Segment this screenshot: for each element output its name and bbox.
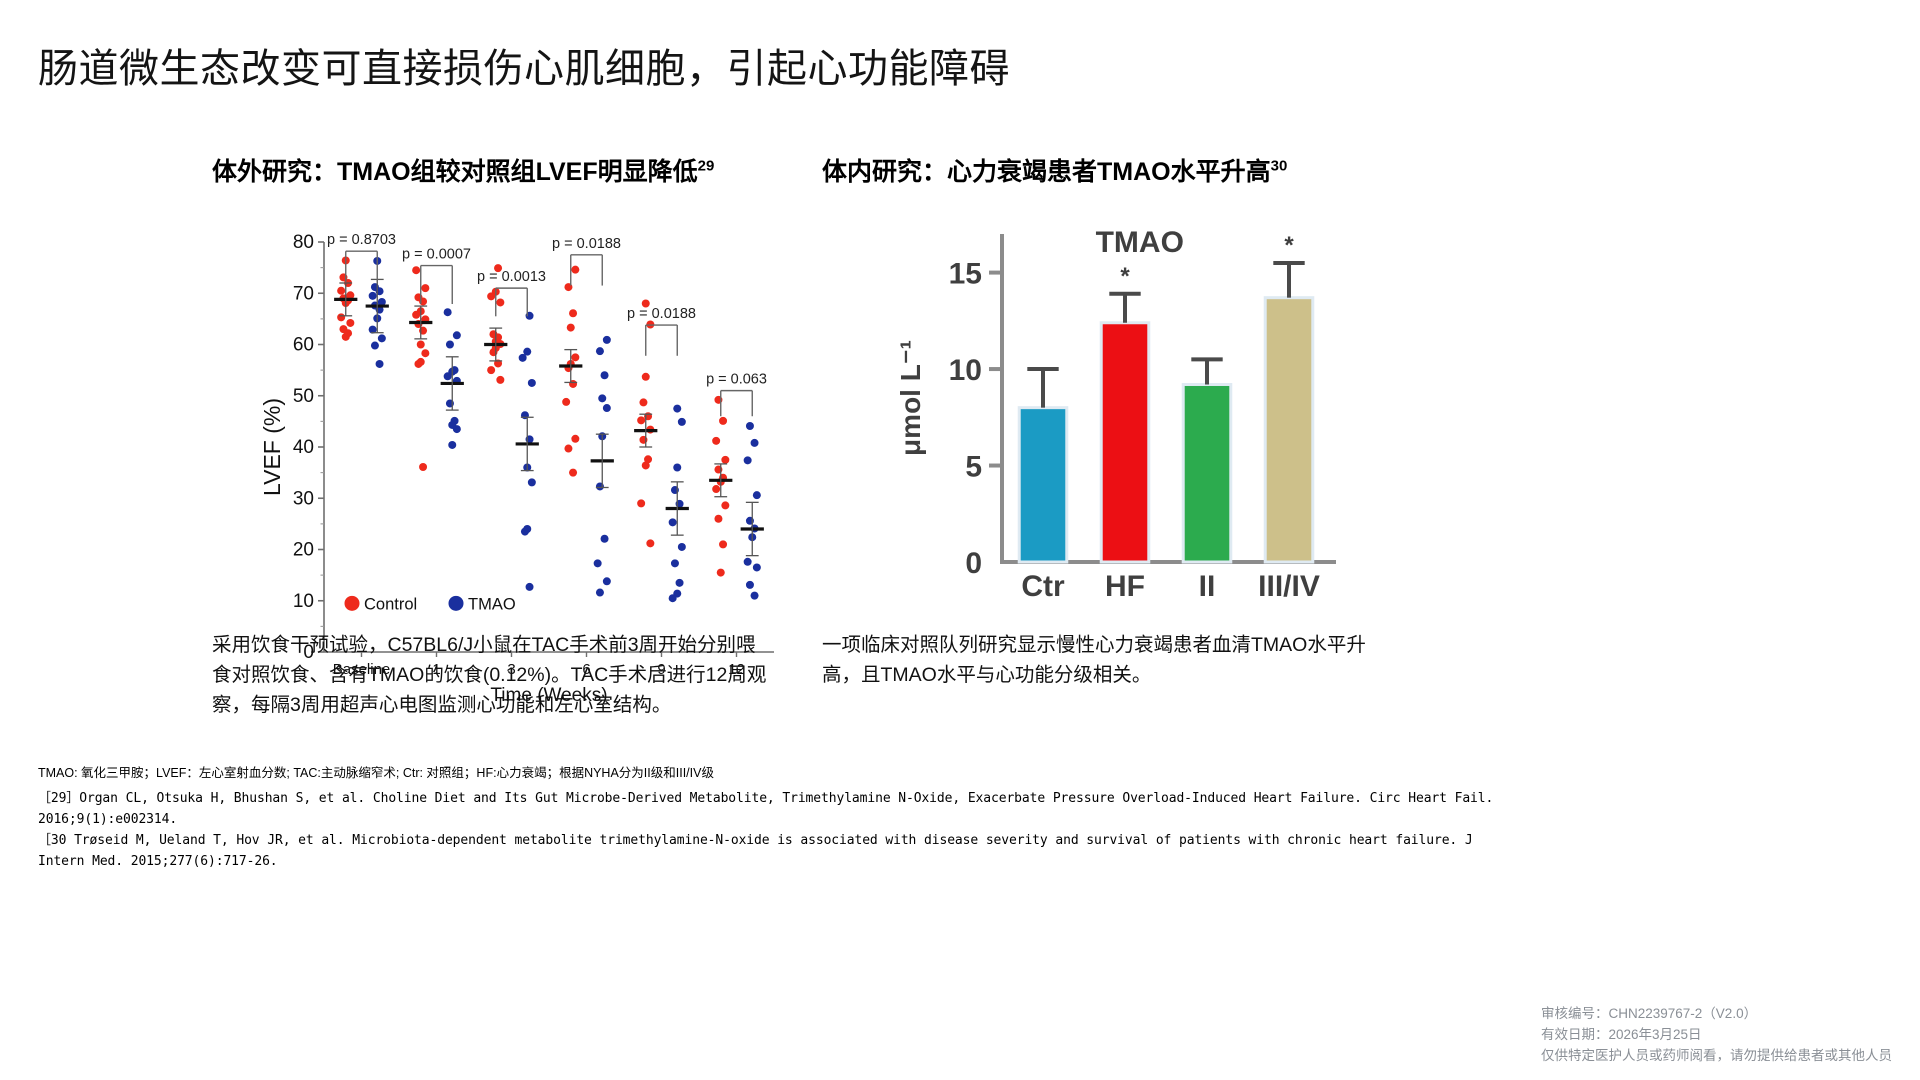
- scatter-data-point: [528, 379, 536, 387]
- right-panel-caption: 一项临床对照队列研究显示慢性心力衰竭患者血清TMAO水平升高，且TMAO水平与心…: [822, 630, 1382, 690]
- scatter-data-point: [753, 491, 761, 499]
- scatter-data-point: [601, 371, 609, 379]
- bar-y-tick-label: 5: [965, 451, 982, 484]
- scatter-y-tick-label: 10: [293, 591, 314, 612]
- scatter-y-tick-label: 30: [293, 488, 314, 509]
- left-panel-subtitle-text: 体外研究：TMAO组较对照组LVEF明显降低: [212, 158, 698, 186]
- scatter-data-point: [421, 284, 429, 292]
- scatter-data-point: [446, 341, 454, 349]
- scatter-data-point: [671, 559, 679, 567]
- bar-significance-marker: *: [1284, 232, 1294, 259]
- scatter-data-point: [596, 347, 604, 355]
- scatter-data-point: [526, 583, 534, 591]
- scatter-data-point: [569, 469, 577, 477]
- scatter-legend: ControlTMAO: [345, 595, 516, 613]
- scatter-data-point: [346, 319, 354, 327]
- scatter-data-point: [678, 543, 686, 551]
- scatter-data-point: [717, 569, 725, 577]
- scatter-data-point: [342, 333, 350, 341]
- bar-rect: [1265, 298, 1313, 562]
- scatter-data-point: [571, 353, 579, 361]
- scatter-data-point: [746, 581, 754, 589]
- bar-chart-tmao: 051015μmol L⁻¹TMAOCtr*HFII*III/IV: [890, 214, 1350, 624]
- scatter-legend-marker: [345, 596, 360, 611]
- scatter-data-point: [496, 376, 504, 384]
- scatter-data-point: [642, 373, 650, 381]
- approval-code: 审核编号：CHN2239767-2（V2.0）: [1541, 1003, 1892, 1024]
- scatter-data-point: [337, 313, 345, 321]
- scatter-data-point: [521, 528, 529, 536]
- right-panel-subtitle-superscript: 30: [1271, 158, 1288, 175]
- scatter-pvalue-label: p = 0.8703: [327, 232, 396, 248]
- left-panel-subtitle: 体外研究：TMAO组较对照组LVEF明显降低29: [212, 152, 714, 188]
- scatter-data-point: [673, 464, 681, 472]
- scatter-data-point: [637, 416, 645, 424]
- bar-rect: [1019, 408, 1067, 562]
- bar-x-tick-label: Ctr: [1021, 570, 1065, 603]
- bar-x-tick-label: II: [1199, 570, 1216, 603]
- scatter-data-point: [678, 418, 686, 426]
- scatter-pvalue-label: p = 0.0013: [477, 269, 546, 285]
- scatter-data-point: [603, 577, 611, 585]
- scatter-data-point: [721, 456, 729, 464]
- scatter-y-tick-label: 70: [293, 283, 314, 304]
- scatter-data-point: [603, 404, 611, 412]
- scatter-data-point: [673, 405, 681, 413]
- scatter-data-point: [337, 287, 345, 295]
- scatter-data-point: [744, 456, 752, 464]
- scatter-data-point: [571, 266, 579, 274]
- footnote-reference-30: ［30 Trøseid M, Ueland T, Hov JR, et al. …: [38, 830, 1498, 872]
- scatter-legend-label: TMAO: [468, 595, 516, 613]
- scatter-data-point: [419, 463, 427, 471]
- scatter-data-point: [744, 558, 752, 566]
- page-title: 肠道微生态改变可直接损伤心肌细胞，引起心功能障碍: [38, 36, 1010, 94]
- scatter-data-point: [496, 298, 504, 306]
- scatter-pvalue-label: p = 0.0188: [552, 236, 621, 252]
- scatter-data-point: [669, 594, 677, 602]
- scatter-data-point: [378, 334, 386, 342]
- scatter-data-point: [594, 559, 602, 567]
- bar-rect: [1101, 323, 1149, 562]
- scatter-data-point: [639, 398, 647, 406]
- scatter-data-point: [562, 398, 570, 406]
- scatter-data-point: [642, 461, 650, 469]
- scatter-data-point: [646, 539, 654, 547]
- scatter-y-tick-label: 40: [293, 437, 314, 458]
- scatter-data-point: [448, 441, 456, 449]
- scatter-data-point: [753, 563, 761, 571]
- scatter-data-point: [569, 309, 577, 317]
- slide-root: 肠道微生态改变可直接损伤心肌细胞，引起心功能障碍 体外研究：TMAO组较对照组L…: [0, 0, 1920, 1080]
- bar-y-tick-label: 15: [949, 258, 982, 291]
- scatter-y-tick-label: 50: [293, 386, 314, 407]
- bar-x-tick-label: III/IV: [1258, 570, 1320, 603]
- left-panel-caption: 采用饮食干预试验，C57BL6/J小鼠在TAC手术前3周开始分别喂食对照饮食、含…: [212, 630, 772, 720]
- scatter-data-point: [487, 366, 495, 374]
- scatter-data-point: [528, 478, 536, 486]
- scatter-data-point: [712, 437, 720, 445]
- scatter-data-point: [637, 499, 645, 507]
- bar-rect: [1183, 384, 1231, 562]
- scatter-data-point: [603, 336, 611, 344]
- approval-block: 审核编号：CHN2239767-2（V2.0） 有效日期：2026年3月25日 …: [1541, 1003, 1892, 1066]
- scatter-pvalue-label: p = 0.063: [706, 372, 767, 388]
- scatter-data-point: [601, 535, 609, 543]
- scatter-data-point: [421, 349, 429, 357]
- scatter-data-point: [453, 425, 461, 433]
- scatter-legend-marker: [449, 596, 464, 611]
- right-panel-subtitle: 体内研究：心力衰竭患者TMAO水平升高30: [822, 152, 1287, 188]
- scatter-y-tick-label: 20: [293, 540, 314, 561]
- scatter-y-axis-title: LVEF (%): [262, 398, 285, 496]
- scatter-data-point: [412, 311, 420, 319]
- bar-x-tick-label: HF: [1105, 570, 1145, 603]
- scatter-data-point: [712, 485, 720, 493]
- scatter-data-point: [746, 422, 754, 430]
- scatter-data-point: [676, 579, 684, 587]
- scatter-data-point: [567, 324, 575, 332]
- scatter-data-point: [714, 515, 722, 523]
- scatter-data-point: [369, 292, 377, 300]
- scatter-data-point: [444, 308, 452, 316]
- right-panel-subtitle-text: 体内研究：心力衰竭患者TMAO水平升高: [822, 158, 1271, 186]
- left-panel-subtitle-superscript: 29: [698, 158, 715, 175]
- bar-y-tick-label: 0: [965, 547, 982, 580]
- bar-chart-title: TMAO: [1096, 226, 1184, 259]
- scatter-data-point: [669, 518, 677, 526]
- scatter-data-point: [571, 435, 579, 443]
- scatter-data-point: [598, 394, 606, 402]
- bar-significance-marker: *: [1120, 263, 1130, 290]
- scatter-data-point: [751, 592, 759, 600]
- scatter-data-point: [751, 439, 759, 447]
- scatter-data-point: [414, 360, 422, 368]
- scatter-data-point: [596, 589, 604, 597]
- approval-expiry: 有效日期：2026年3月25日: [1541, 1024, 1892, 1045]
- scatter-data-point: [721, 501, 729, 509]
- scatter-data-point: [417, 341, 425, 349]
- scatter-data-point: [519, 354, 527, 362]
- bar-y-tick-label: 10: [949, 354, 982, 387]
- scatter-pvalue-label: p = 0.0007: [402, 247, 471, 263]
- footnote-abbreviations: TMAO: 氧化三甲胺；LVEF：左心室射血分数; TAC:主动脉缩窄术; Ct…: [38, 764, 1498, 783]
- scatter-legend-label: Control: [364, 595, 417, 613]
- scatter-y-tick-label: 80: [293, 232, 314, 253]
- footnote-reference-29: ［29］Organ CL, Otsuka H, Bhushan S, et al…: [38, 788, 1498, 830]
- scatter-data-point: [564, 445, 572, 453]
- bar-chart-svg: 051015μmol L⁻¹TMAOCtr*HFII*III/IV: [890, 214, 1350, 624]
- scatter-data-point: [376, 360, 384, 368]
- scatter-data-point: [453, 331, 461, 339]
- scatter-data-point: [719, 540, 727, 548]
- scatter-data-point: [371, 342, 379, 350]
- footnotes-block: TMAO: 氧化三甲胺；LVEF：左心室射血分数; TAC:主动脉缩窄术; Ct…: [38, 764, 1498, 872]
- approval-disclaimer: 仅供特定医护人员或药师阅看，请勿提供给患者或其他人员: [1541, 1045, 1892, 1066]
- scatter-data-point: [412, 266, 420, 274]
- scatter-data-point: [487, 292, 495, 300]
- scatter-data-point: [444, 372, 452, 380]
- scatter-pvalue-label: p = 0.0188: [627, 306, 696, 322]
- scatter-data-point: [719, 417, 727, 425]
- scatter-y-tick-label: 60: [293, 335, 314, 356]
- bar-y-axis-title: μmol L⁻¹: [895, 340, 926, 456]
